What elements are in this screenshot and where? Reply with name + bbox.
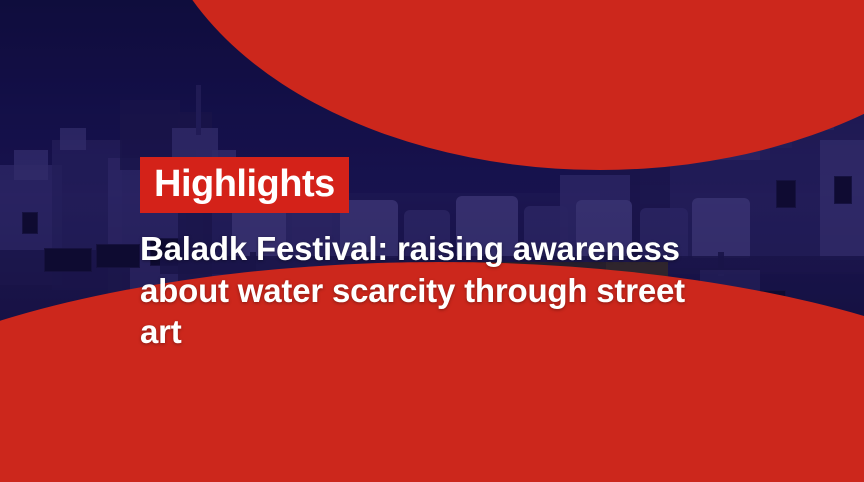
highlight-banner-card: Highlights Baladk Festival: raising awar… [0,0,864,482]
card-content: Highlights Baladk Festival: raising awar… [140,157,740,353]
card-headline: Baladk Festival: raising awareness about… [140,228,730,353]
highlights-badge: Highlights [140,157,349,213]
